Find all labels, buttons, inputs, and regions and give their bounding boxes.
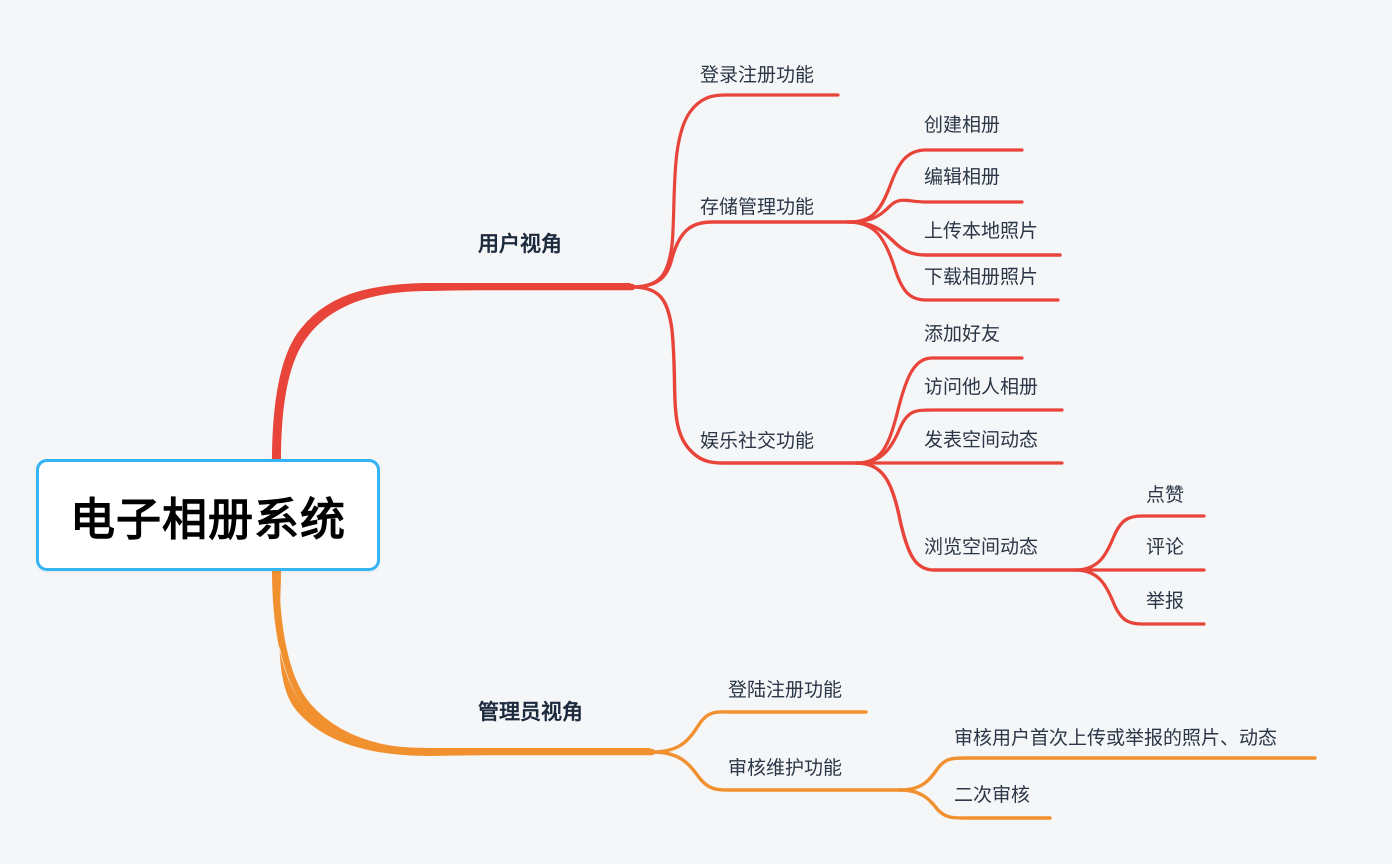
mindmap-canvas: 电子相册系统 用户视角 管理员视角 登录注册功能 存储管理功能 娱乐社交功能 创…	[0, 0, 1392, 864]
node-create-album[interactable]: 创建相册	[924, 116, 1000, 135]
node-admin-login-register[interactable]: 登陆注册功能	[728, 681, 842, 700]
node-entertainment-social[interactable]: 娱乐社交功能	[700, 432, 814, 451]
branch-title-user[interactable]: 用户视角	[478, 234, 562, 255]
root-node[interactable]: 电子相册系统	[36, 459, 380, 571]
link-user-login	[632, 95, 838, 287]
node-upload-local-photo[interactable]: 上传本地照片	[924, 222, 1038, 241]
node-download-album-photo[interactable]: 下载相册照片	[924, 268, 1038, 287]
node-edit-album[interactable]: 编辑相册	[924, 168, 1000, 187]
node-like[interactable]: 点赞	[1146, 486, 1184, 505]
node-comment[interactable]: 评论	[1146, 538, 1184, 557]
node-first-audit[interactable]: 审核用户首次上传或举报的照片、动态	[954, 729, 1277, 748]
link-user-storage	[632, 222, 848, 287]
link-browse-report	[1075, 570, 1204, 624]
node-post-moment[interactable]: 发表空间动态	[924, 431, 1038, 450]
node-login-register[interactable]: 登录注册功能	[700, 66, 814, 85]
root-node-label: 电子相册系统	[70, 483, 346, 548]
node-audit-maintenance[interactable]: 审核维护功能	[728, 759, 842, 778]
branch-title-admin[interactable]: 管理员视角	[478, 702, 583, 723]
node-storage-management[interactable]: 存储管理功能	[700, 198, 814, 217]
node-report[interactable]: 举报	[1146, 592, 1184, 611]
link-admin-login	[652, 712, 866, 752]
stem-admin-outline	[276, 570, 652, 752]
link-storage-edit	[848, 200, 1022, 222]
link-browse-like	[1075, 516, 1204, 570]
node-add-friend[interactable]: 添加好友	[924, 325, 1000, 344]
node-second-audit[interactable]: 二次审核	[954, 786, 1030, 805]
node-browse-moment[interactable]: 浏览空间动态	[924, 538, 1038, 557]
node-visit-others-album[interactable]: 访问他人相册	[924, 378, 1038, 397]
